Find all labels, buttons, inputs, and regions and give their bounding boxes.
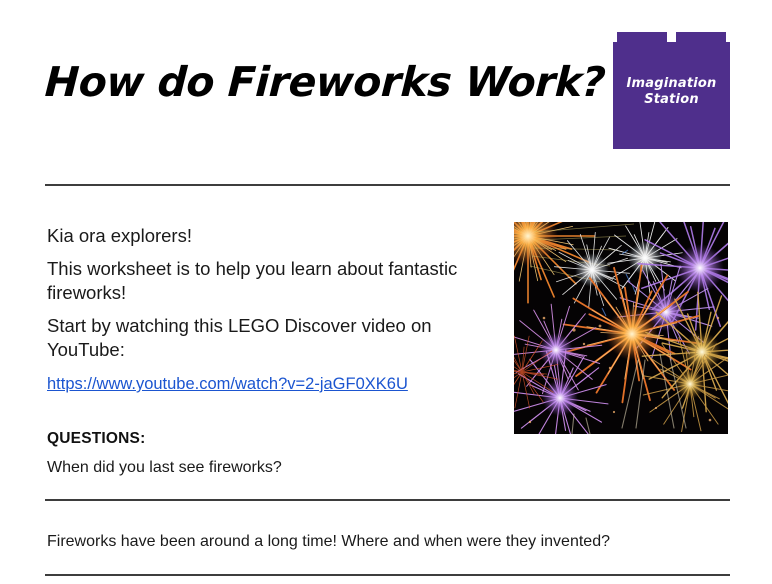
intro-instruction: Start by watching this LEGO Discover vid…: [47, 314, 502, 362]
intro-text-block: Kia ora explorers! This worksheet is to …: [47, 224, 502, 404]
logo-label: Imagination Station: [613, 76, 730, 108]
divider-rule-bottom: [45, 574, 730, 576]
logo-label-line-1: Imagination: [613, 76, 730, 92]
logo-label-line-2: Station: [613, 92, 730, 108]
divider-rule-top: [45, 184, 730, 186]
question-item-2: Fireworks have been around a long time! …: [47, 533, 610, 551]
intro-greeting: Kia ora explorers!: [47, 224, 502, 248]
fireworks-photo: [514, 222, 728, 434]
divider-rule-middle: [45, 499, 730, 501]
imagination-station-logo: Imagination Station: [613, 32, 730, 149]
page-title: How do Fireworks Work?: [44, 58, 607, 106]
question-item-1: When did you last see fireworks?: [47, 459, 282, 477]
intro-purpose: This worksheet is to help you learn abou…: [47, 257, 502, 305]
video-link-line: https://www.youtube.com/watch?v=2-jaGF0X…: [47, 371, 502, 395]
page-header: How do Fireworks Work? Imagination Stati…: [0, 0, 772, 184]
questions-heading: QUESTIONS:: [47, 430, 145, 448]
worksheet-page: How do Fireworks Work? Imagination Stati…: [0, 0, 772, 584]
youtube-video-link[interactable]: https://www.youtube.com/watch?v=2-jaGF0X…: [47, 375, 408, 393]
